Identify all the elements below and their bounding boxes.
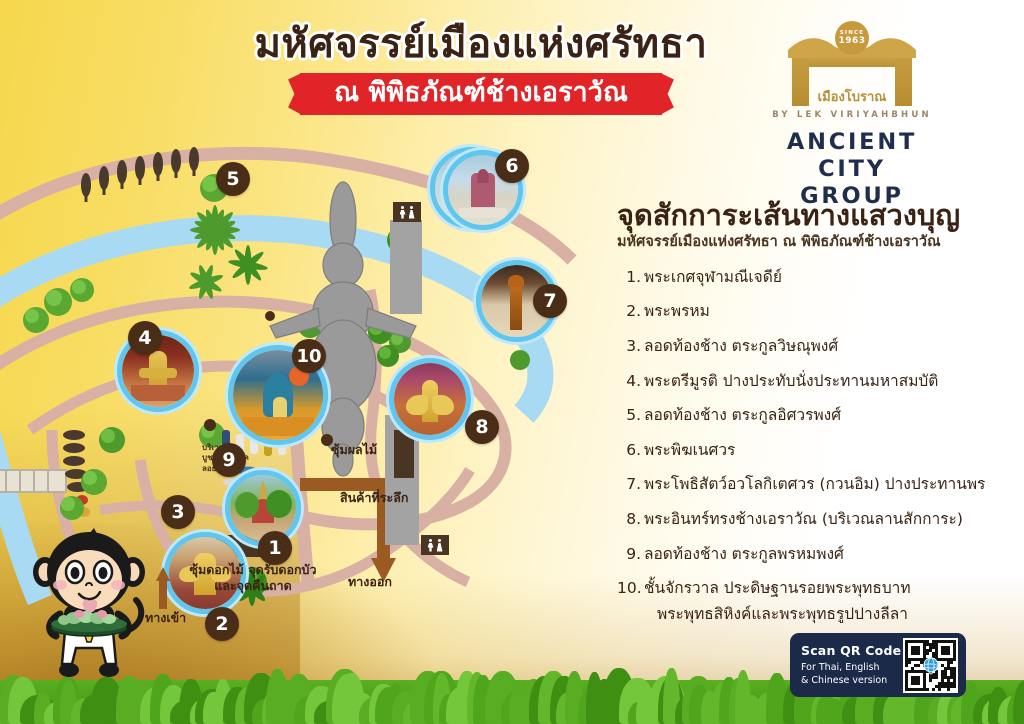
label-souvenir: สินค้าที่ระลึก	[340, 490, 408, 506]
pilgrimage-list-item: 1.พระเกศจุฬามณีเจดีย์	[617, 267, 1013, 287]
list-item-number: 6.	[617, 440, 641, 460]
pilgrimage-list-item: 6.พระพิฆเนศวร	[617, 440, 1013, 460]
map-badge-10[interactable]: 10	[292, 339, 326, 373]
pilgrimage-list-item: 5.ลอดท้องช้าง ตระกูลอิศวรพงศ์	[617, 405, 1013, 425]
map-badge-6[interactable]: 6	[495, 149, 529, 183]
map-badge-9[interactable]: 9	[212, 443, 246, 477]
list-item-number: 9.	[617, 544, 641, 564]
list-item-number: 2.	[617, 301, 641, 321]
pilgrimage-points-panel: จุดสักการะเส้นทางแสวงบุญ มหัศจรรย์เมืองแ…	[617, 198, 1013, 638]
page-title: มหัศจรรย์เมืองแห่งศรัทธา	[246, 22, 716, 67]
label-flower-arch-l2: และจุดคืนถาด	[214, 578, 291, 593]
list-item-number: 5.	[617, 405, 641, 425]
list-item-text: ลอดท้องช้าง ตระกูลอิศวรพงศ์	[644, 406, 841, 424]
qr-card-text: Scan QR Code For Thai, English & Chinese…	[801, 643, 901, 688]
globe-icon	[923, 658, 938, 673]
panel-heading: จุดสักการะเส้นทางแสวงบุญ	[617, 198, 1013, 232]
map-badge-4[interactable]: 4	[128, 321, 162, 355]
pilgrimage-list-item: 4.พระตรีมูรติ ปางประทับนั่งประทานมหาสมบั…	[617, 371, 1013, 391]
list-item-text: พระเกศจุฬามณีเจดีย์	[644, 268, 782, 286]
poster-root: ซุ้มผลไม้ สินค้าที่ระลึก ซุ้มดอกไม้ จุดร…	[0, 0, 1024, 724]
entrance-arrow-icon	[156, 567, 170, 609]
list-item-text: พระอินทร์ทรงช้างเอราวัณ (บริเวณลานสักการ…	[644, 510, 963, 528]
map-badge-5[interactable]: 5	[216, 162, 250, 196]
map-badge-1[interactable]: 1	[258, 531, 292, 565]
page-subtitle: ณ พิพิธภัณฑ์ช้างเอราวัณ	[334, 78, 628, 108]
block-fruit-arch	[394, 430, 414, 478]
poster-title-block: มหัศจรรย์เมืองแห่งศรัทธา ณ พิพิธภัณฑ์ช้า…	[246, 22, 716, 115]
list-item-text: พระโพธิสัตว์อวโลกิเตศวร (กวนอิม) ปางประท…	[644, 475, 985, 493]
map-badge-2[interactable]: 2	[205, 607, 239, 641]
list-item-number: 8.	[617, 509, 641, 529]
logo-thai-name: เมืองโบราณ	[752, 86, 952, 107]
since-year: 1963	[838, 36, 865, 46]
photo-site-8[interactable]	[389, 358, 471, 440]
pilgrimage-list: 1.พระเกศจุฬามณีเจดีย์2.พระพรหม3.ลอดท้องช…	[617, 267, 1013, 624]
list-item-text: ชั้นจักรวาล ประดิษฐานรอยพระพุทธบาท	[644, 579, 911, 597]
monkey-mascot	[24, 528, 154, 683]
since-seal-icon: SINCE 1963	[835, 21, 869, 55]
list-item-text: พระพรหม	[644, 302, 710, 320]
list-item-text: ลอดท้องช้าง ตระกูลพรหมพงศ์	[644, 545, 844, 563]
qr-code-image[interactable]	[903, 638, 958, 693]
logo-name-line1: ANCIENT CITY	[752, 129, 952, 183]
list-item-number: 4.	[617, 371, 641, 391]
map-badge-3[interactable]: 3	[161, 495, 195, 529]
pilgrimage-list-item: 3.ลอดท้องช้าง ตระกูลวิษณุพงศ์	[617, 336, 1013, 356]
map-badge-8[interactable]: 8	[465, 410, 499, 444]
list-item-number: 3.	[617, 336, 641, 356]
qr-code-card[interactable]: Scan QR Code For Thai, English & Chinese…	[790, 633, 966, 697]
list-item-text: ลอดท้องช้าง ตระกูลวิษณุพงศ์	[644, 337, 838, 355]
label-flower-arch: ซุ้มดอกไม้ จุดรับดอกบัว และจุดคืนถาด	[178, 562, 328, 593]
label-exit: ทางออก	[348, 574, 392, 590]
pilgrimage-list-item: 9.ลอดท้องช้าง ตระกูลพรหมพงศ์	[617, 544, 1013, 564]
list-item-number: 7.	[617, 474, 641, 494]
restroom-icon-north	[393, 202, 421, 222]
pilgrimage-list-item: 7.พระโพธิสัตว์อวโลกิเตศวร (กวนอิม) ปางปร…	[617, 474, 1013, 494]
pilgrimage-list-item: 2.พระพรหม	[617, 301, 1013, 321]
list-item-number: 1.	[617, 267, 641, 287]
qr-title: Scan QR Code	[801, 643, 901, 658]
building-restroom-north	[390, 220, 422, 314]
list-item-text-line2: พระพุทธสิหิงค์และพระพุทธรูปปางลีลา	[644, 604, 1013, 624]
ancient-city-group-logo[interactable]: SINCE 1963 เมืองโบราณ BY LEK VIRIYAHBHUN…	[752, 24, 952, 210]
title-ribbon: ณ พิพิธภัณฑ์ช้างเอราวัณ	[300, 73, 662, 115]
label-fruit-arch: ซุ้มผลไม้	[331, 442, 377, 458]
restroom-icon-exit	[421, 535, 449, 555]
qr-sub-line1: For Thai, English	[801, 662, 901, 675]
panel-subheading: มหัศจรรย์เมืองแห่งศรัทธา ณ พิพิธภัณฑ์ช้า…	[617, 234, 1013, 251]
map-badge-7[interactable]: 7	[533, 284, 567, 318]
list-item-text: พระตรีมูรติ ปางประทับนั่งประทานมหาสมบัติ	[644, 372, 938, 390]
qr-sub-line2: & Chinese version	[801, 675, 901, 688]
list-item-text: พระพิฆเนศวร	[644, 441, 735, 459]
logo-byline: BY LEK VIRIYAHBHUN	[752, 110, 952, 120]
pilgrimage-list-item: 8.พระอินทร์ทรงช้างเอราวัณ (บริเวณลานสักก…	[617, 509, 1013, 529]
list-item-number: 10.	[617, 578, 641, 598]
label-flower-arch-l1: ซุ้มดอกไม้ จุดรับดอกบัว	[189, 562, 316, 577]
pilgrimage-list-item: 10.ชั้นจักรวาล ประดิษฐานรอยพระพุทธบาทพระ…	[617, 578, 1013, 623]
